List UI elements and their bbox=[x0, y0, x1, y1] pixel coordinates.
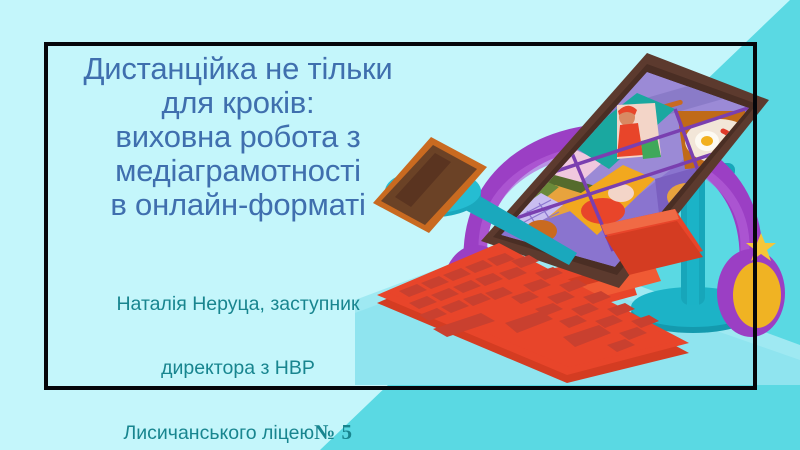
school-number: № 5 bbox=[314, 420, 352, 444]
slide-title: Дистанційка не тільки для кроків: виховн… bbox=[58, 52, 418, 222]
remote-learning-illustration bbox=[355, 45, 800, 385]
slide-subtitle: Наталія Неруца, заступник директора з НВ… bbox=[58, 256, 418, 449]
text-block: Дистанційка не тільки для кроків: виховн… bbox=[58, 52, 418, 449]
subtitle-line-3: Лисичанського ліцею bbox=[123, 422, 314, 444]
subtitle-line-1: Наталія Неруца, заступник bbox=[116, 293, 359, 315]
subtitle-line-2: директора з НВР bbox=[161, 357, 315, 379]
slide-canvas: Дистанційка не тільки для кроків: виховн… bbox=[0, 0, 800, 450]
